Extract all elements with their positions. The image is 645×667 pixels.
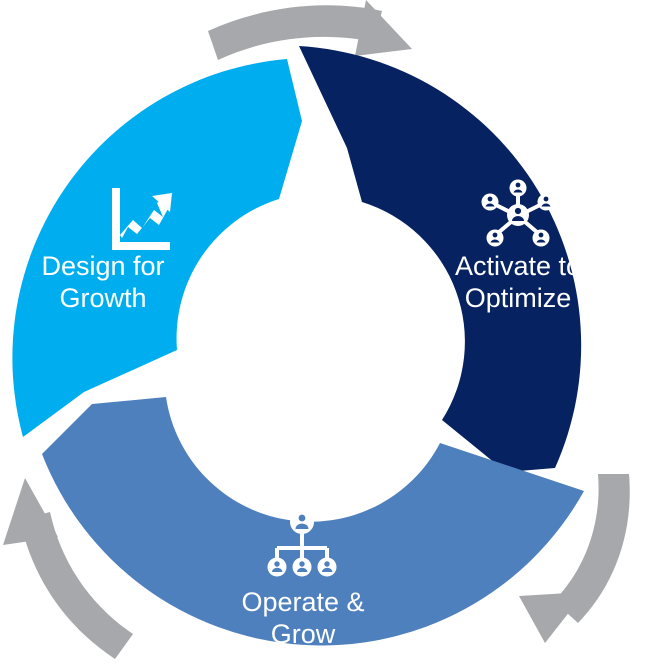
network-hub-node-upper-right — [538, 194, 555, 211]
donut-segments-group — [12, 46, 584, 645]
label-operate-and-grow-line2: Grow — [271, 619, 336, 649]
label-operate-and-grow-line1: Operate & — [241, 587, 364, 617]
label-activate-to-optimize-line1: Activate to — [455, 251, 581, 281]
network-hub-node-upper-left — [482, 194, 499, 211]
arrow-left-head — [3, 478, 58, 545]
network-hub-node-lower-left — [487, 230, 504, 247]
label-activate-to-optimize-line2: Optimize — [465, 283, 572, 313]
label-design-for-growth-line1: Design for — [41, 251, 164, 281]
cycle-diagram: Design for Growth Activate to Optimize O… — [0, 0, 645, 667]
org-chart-node-left — [268, 558, 287, 577]
network-hub-node-lower-right — [533, 230, 550, 247]
network-hub-center-node — [507, 204, 529, 226]
network-hub-node-top — [510, 180, 527, 197]
label-design-for-growth-line2: Growth — [59, 283, 146, 313]
org-chart-node-center — [293, 558, 312, 577]
org-chart-node-top — [290, 510, 314, 534]
cycle-diagram-canvas: Design for Growth Activate to Optimize O… — [0, 0, 645, 667]
org-chart-node-right — [318, 558, 337, 577]
